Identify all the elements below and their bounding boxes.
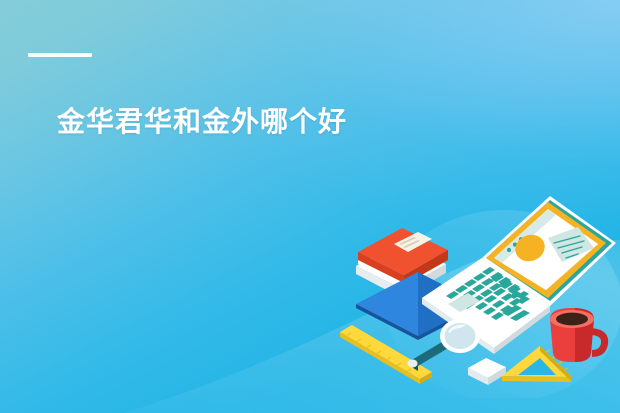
education-desk-illustration — [334, 186, 620, 398]
accent-rule — [28, 53, 92, 57]
page-title: 金华君华和金外哪个好 — [57, 103, 477, 141]
promo-banner: 金华君华和金外哪个好 — [0, 0, 620, 413]
